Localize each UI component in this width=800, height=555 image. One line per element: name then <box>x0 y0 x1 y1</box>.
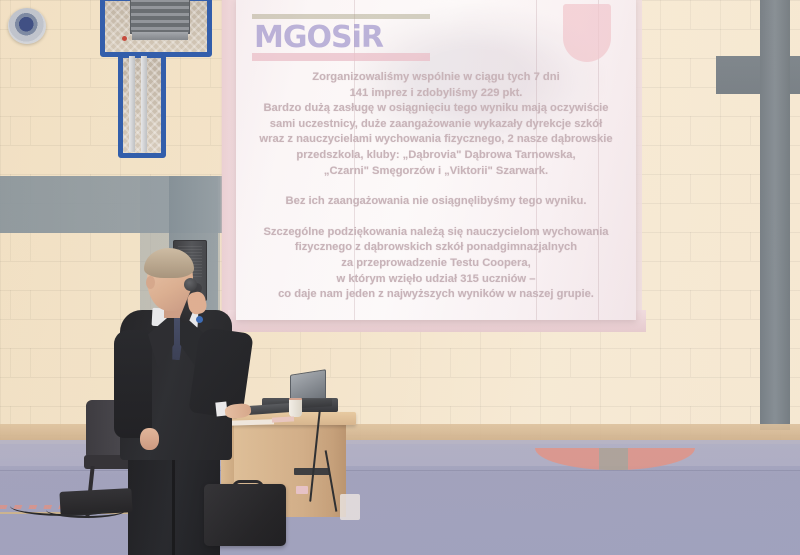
banner-line: w którym wzięło udział 315 uczniów – <box>242 272 630 288</box>
projection-banner: MGOSiR Zorganizowaliśmy wspólnie w ciągu… <box>236 0 636 320</box>
microphone-head-icon <box>184 278 197 291</box>
banner-spacer <box>242 179 630 194</box>
microphone-indicator <box>196 316 203 323</box>
shield-crest-icon <box>563 4 611 62</box>
logo-rule-top <box>252 14 430 19</box>
logo-rule-bottom <box>252 53 430 61</box>
banner-line: wraz z nauczycielami wychowania fizyczne… <box>242 132 630 148</box>
banner-line: Bardzo dużą zasługę w osiągnięciu tego w… <box>242 101 630 117</box>
hoop-winch-housing <box>130 0 190 34</box>
banner-line: przedszkola, kluby: „Dąbrovia" Dąbrowa T… <box>242 148 630 164</box>
trouser-seam <box>172 452 175 555</box>
black-equipment-bag <box>204 484 286 546</box>
hoop-rail-right <box>141 56 147 152</box>
banner-text-block: Zorganizowaliśmy wspólnie w ciągu tych 7… <box>242 70 630 303</box>
floor-seam <box>0 470 800 471</box>
banner-line: sami uczestnicy, duże zaangażowanie wyka… <box>242 117 630 133</box>
person-left-hand <box>140 428 159 450</box>
banner-line: za przeprowadzenie Testu Coopera, <box>242 256 630 272</box>
hoop-rail-left <box>129 56 135 152</box>
gray-pillar <box>760 0 790 430</box>
banner-line: fizycznego z dąbrowskich szkół ponadgimn… <box>242 240 630 256</box>
white-plastic-bag <box>340 494 360 520</box>
banner-spacer <box>242 210 630 225</box>
indicator-light <box>122 36 127 41</box>
paper-coffee-cup <box>289 398 302 417</box>
banner-line: Zorganizowaliśmy wspólnie w ciągu tych 7… <box>242 70 630 86</box>
banner-line: „Czarni" Smęgorzów i „Viktorii" Szarwark… <box>242 164 630 180</box>
floor-cable <box>46 502 126 518</box>
hoop-mount-plate <box>132 32 188 40</box>
photo-scene: MGOSiR Zorganizowaliśmy wspólnie w ciągu… <box>0 0 800 555</box>
banner-line: 141 imprez i zdobyliśmy 229 pkt. <box>242 86 630 102</box>
mgosir-logo: MGOSiR <box>254 20 383 55</box>
banner-line: co daje nam jeden z najwyższych wyników … <box>242 287 630 303</box>
shelf-small-object <box>296 486 308 494</box>
banner-line: Bez ich zaangażowania nie osiągnęlibyśmy… <box>242 194 630 210</box>
banner-line: Szczególne podziękowania należą się nauc… <box>242 225 630 241</box>
person-left-arm <box>114 330 152 438</box>
person-ear <box>146 276 155 289</box>
circular-wall-vent-icon <box>8 8 46 44</box>
